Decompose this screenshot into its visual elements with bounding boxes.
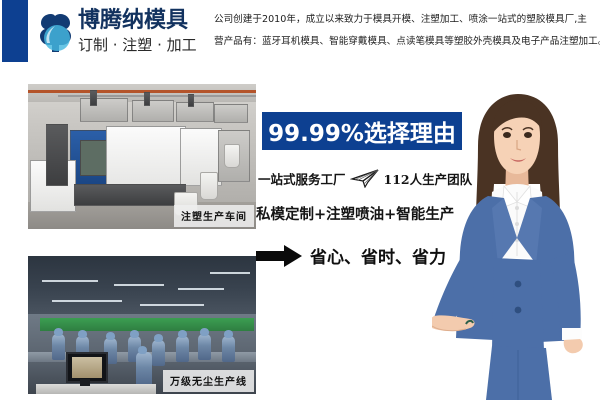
brand-block: 博腾纳模具 订制 · 注塑 · 加工 [78,8,208,55]
company-description-line-2: 营产品有：蓝牙耳机模具、智能穿戴模具、点读笔模具等塑胶外壳模具及电子产品注塑加工… [214,31,596,53]
benefit-row: 省心、省时、省力 [256,243,446,268]
businesswoman-model-image [432,88,600,400]
brand-name: 博腾纳模具 [78,8,208,34]
process-text: 私模定制+注塑喷油+智能生产 [256,203,454,224]
feature-label-one-stop-factory: 一站式服务工厂 [258,169,346,188]
clover-droplet-logo-icon [34,10,78,56]
photo-injection-molding-workshop: 注塑生产车间 [28,84,256,229]
photo-dust-free-production-line: 万级无尘生产线 [28,256,256,394]
right-arrow-icon [256,245,302,267]
photo-caption-workshop: 注塑生产车间 [174,205,254,227]
benefit-text: 省心、省时、省力 [310,243,446,268]
page-header: 博腾纳模具 订制 · 注塑 · 加工 公司创建于2010年，成立以来致力于模具开… [0,0,600,72]
header-accent-bar [2,0,28,62]
paper-plane-icon [350,168,380,188]
company-description: 公司创建于2010年，成立以来致力于模具开模、注塑加工、喷涂一站式的塑胶模具厂,… [214,9,596,53]
photo-caption-cleanroom: 万级无尘生产线 [163,370,254,392]
promotional-banner-page: 博腾纳模具 订制 · 注塑 · 加工 公司创建于2010年，成立以来致力于模具开… [0,0,600,400]
brand-subtitle: 订制 · 注塑 · 加工 [78,35,208,55]
company-description-line-1: 公司创建于2010年，成立以来致力于模具开模、注塑加工、喷涂一站式的塑胶模具厂,… [214,9,596,31]
